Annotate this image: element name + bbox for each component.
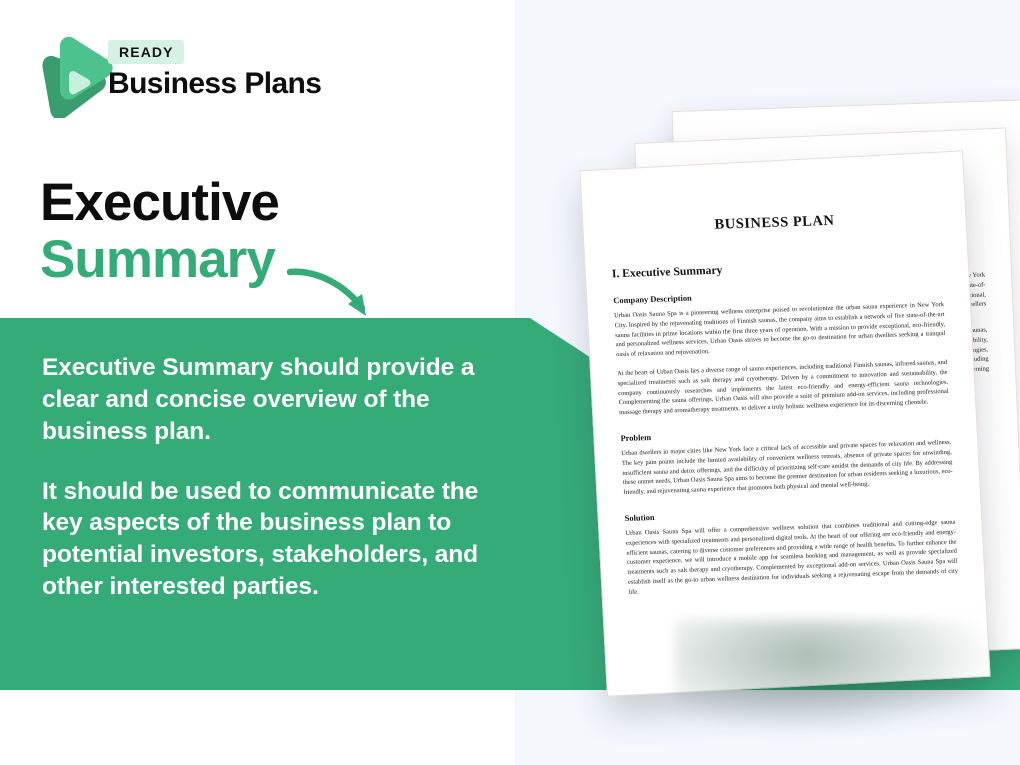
brand-name: Business Plans: [108, 68, 321, 100]
doc-paragraph: Urban dwellers in major cities like New …: [621, 438, 953, 498]
page-title-line2: Summary: [40, 232, 460, 287]
doc-paragraph: At the heart of Urban Oasis lies a diver…: [617, 358, 949, 418]
doc-section-heading: I. Executive Summary: [612, 256, 943, 280]
page-title: Executive Summary: [40, 176, 460, 287]
document-page-front-content: BUSINESS PLAN I. Executive Summary Compa…: [581, 158, 990, 695]
slide-canvas: READY Business Plans Executive Summary E…: [0, 0, 1020, 765]
document-stack[interactable]: BUSINESS PLAN I. Executive Summary Compa…: [505, 60, 1020, 680]
page-title-line1: Executive: [40, 176, 460, 230]
doc-title: BUSINESS PLAN: [609, 209, 940, 237]
double-play-triangle-logo-icon: [38, 36, 116, 118]
brand-logo[interactable]: READY Business Plans: [38, 36, 328, 122]
doc-paragraph: Urban Oasis Sauna Spa will offer a compr…: [625, 518, 958, 598]
panel-paragraph-1: Executive Summary should provide a clear…: [42, 352, 494, 448]
ready-badge: READY: [108, 40, 184, 64]
panel-description: Executive Summary should provide a clear…: [42, 352, 494, 603]
curved-arrow-down-right-icon: [286, 262, 386, 328]
panel-paragraph-2: It should be used to communicate the key…: [42, 476, 494, 603]
doc-paragraph: Urban Oasis Sauna Spa is a pioneering we…: [614, 300, 946, 360]
brand-wordmark: READY Business Plans: [108, 40, 321, 100]
document-page-front[interactable]: BUSINESS PLAN I. Executive Summary Compa…: [579, 150, 990, 696]
